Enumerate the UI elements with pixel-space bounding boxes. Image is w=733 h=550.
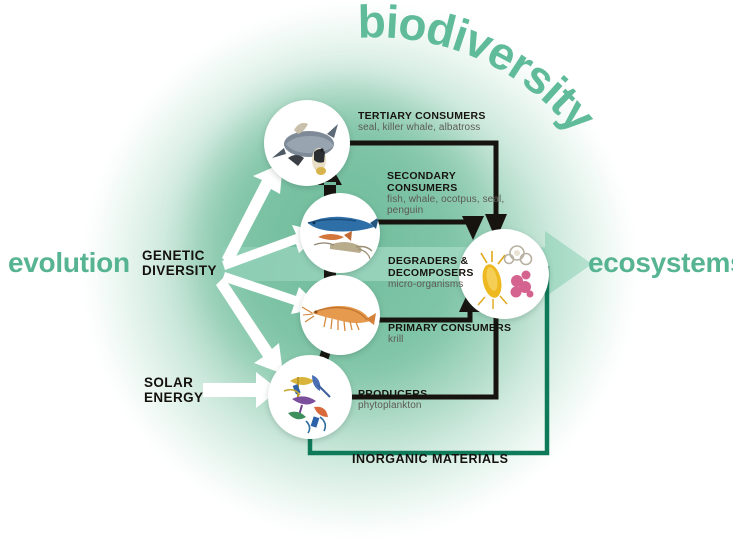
label-solar-energy: SOLAR ENERGY xyxy=(144,375,203,405)
label-genetic-diversity: GENETIC DIVERSITY xyxy=(142,248,217,278)
tertiary-consumers-title: TERTIARY CONSUMERS xyxy=(358,110,486,122)
node-tertiary-consumers[interactable] xyxy=(264,100,350,186)
label-ecosystems: ecosystems xyxy=(588,247,733,279)
genetic-diversity-line2: DIVERSITY xyxy=(142,263,217,278)
krill-icon xyxy=(300,275,380,355)
secondary-consumers-subtitle-2: penguin xyxy=(387,205,504,216)
node-primary-consumers[interactable] xyxy=(300,275,380,355)
degraders-subtitle: micro-organisms xyxy=(388,279,474,290)
primary-consumers-subtitle: krill xyxy=(388,334,511,345)
producers-title: PRODUCERS xyxy=(358,388,427,400)
label-evolution: evolution xyxy=(8,247,130,279)
secondary-consumers-title-1: SECONDARY xyxy=(387,170,504,182)
label-secondary-consumers: SECONDARY CONSUMERS fish, whale, ocotpus… xyxy=(387,170,504,216)
producers-subtitle: phytoplankton xyxy=(358,400,427,411)
label-inorganic-materials: INORGANIC MATERIALS xyxy=(352,452,509,466)
secondary-consumers-subtitle-1: fish, whale, ocotpus, seal, xyxy=(387,194,504,205)
whale-penguin-albatross-icon xyxy=(264,100,350,186)
degraders-title-2: DECOMPOSERS xyxy=(388,267,474,279)
solar-energy-line1: SOLAR xyxy=(144,375,203,390)
solar-energy-line2: ENERGY xyxy=(144,390,203,405)
node-producers[interactable] xyxy=(268,355,352,439)
phytoplankton-icon xyxy=(268,355,352,439)
node-secondary-consumers[interactable] xyxy=(300,193,380,273)
fish-squid-icon xyxy=(300,193,380,273)
genetic-diversity-line1: GENETIC xyxy=(142,248,217,263)
primary-consumers-title: PRIMARY CONSUMERS xyxy=(388,322,511,334)
tertiary-consumers-subtitle: seal, killer whale, albatross xyxy=(358,122,486,133)
secondary-consumers-title-2: CONSUMERS xyxy=(387,182,504,194)
label-tertiary-consumers: TERTIARY CONSUMERS seal, killer whale, a… xyxy=(358,110,486,133)
label-primary-consumers: PRIMARY CONSUMERS krill xyxy=(388,322,511,345)
label-degraders-decomposers: DEGRADERS & DECOMPOSERS micro-organisms xyxy=(388,255,474,290)
label-producers: PRODUCERS phytoplankton xyxy=(358,388,427,411)
degraders-title-1: DEGRADERS & xyxy=(388,255,474,267)
biodiversity-diagram: biodiversity xyxy=(0,0,733,550)
